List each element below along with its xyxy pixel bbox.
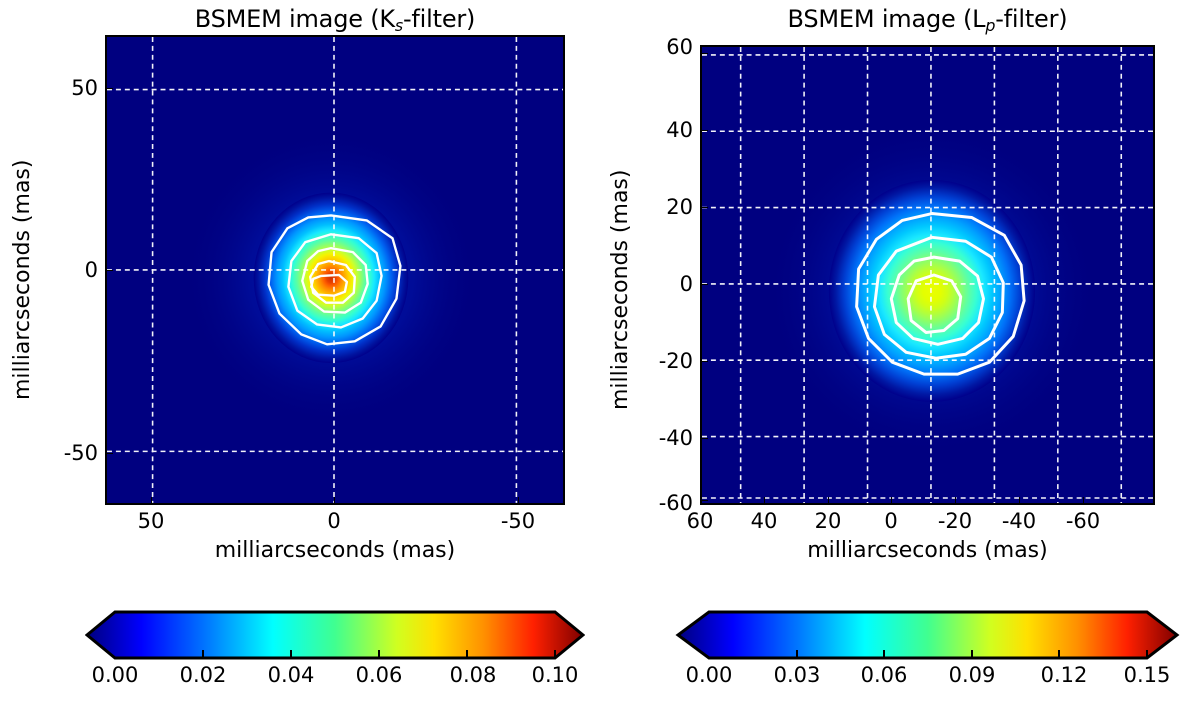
yaxis-label-lp: milliarcseconds (mas) [608, 170, 633, 410]
yaxis-label-ks: milliarcseconds (mas) [10, 160, 35, 400]
xtick-label-ks-2: -50 [501, 509, 535, 533]
colorbar-lp[interactable]: 0.00 0.03 0.06 0.09 0.12 0.15 [675, 608, 1180, 662]
colorbar-lp-gradient [675, 608, 1180, 662]
colorbar-lp-tick-1: 0.03 [774, 663, 821, 687]
panel-title-lp-tail: -filter) [995, 5, 1067, 33]
xtick-mark-lp-6 [1083, 497, 1084, 505]
axes-lp[interactable] [700, 45, 1155, 505]
ytick-mark-lp-1 [700, 130, 708, 131]
ytick-label-ks-1: 0 [50, 258, 98, 282]
ytick-label-ks-0: 50 [50, 76, 98, 100]
panel-title-ks: BSMEM image (Ks-filter) [105, 5, 565, 33]
panel-title-ks-sub: s [395, 16, 403, 35]
panel-title-lp: BSMEM image (Lp-filter) [700, 5, 1155, 33]
ytick-mark-lp-6 [700, 500, 708, 501]
panel-title-lp-sub: p [985, 16, 995, 35]
ytick-mark-lp-2 [700, 207, 708, 208]
ytick-mark-lp-4 [700, 361, 708, 362]
ytick-label-lp-2: 20 [645, 195, 693, 219]
ytick-label-lp-5: -40 [637, 426, 693, 450]
ytick-mark-lp-0 [700, 53, 708, 54]
ytick-label-lp-0: 60 [645, 35, 693, 59]
colorbar-ks-tick-0: 0.00 [92, 663, 139, 687]
image-lp [702, 47, 1153, 503]
xtick-mark-ks-0 [151, 497, 152, 505]
ytick-mark-lp-5 [700, 438, 708, 439]
ytick-label-lp-6: -60 [637, 491, 693, 515]
colorbar-ks[interactable]: 0.00 0.02 0.04 0.06 0.08 0.10 [85, 608, 585, 662]
xtick-mark-ks-1 [334, 497, 335, 505]
ytick-mark-ks-2 [105, 453, 113, 454]
colorbar-ks-tick-1: 0.02 [180, 663, 227, 687]
ytick-mark-lp-3 [700, 284, 708, 285]
colorbar-ks-tick-3: 0.06 [356, 663, 403, 687]
xtick-label-ks-0: 50 [138, 509, 165, 533]
ytick-mark-ks-1 [105, 270, 113, 271]
xtick-mark-lp-5 [1019, 497, 1020, 505]
colorbar-lp-tick-2: 0.06 [861, 663, 908, 687]
colorbar-ks-tick-2: 0.04 [268, 663, 315, 687]
colorbar-lp-tick-5: 0.15 [1124, 663, 1171, 687]
xtick-label-ks-1: 0 [327, 509, 340, 533]
xtick-mark-lp-2 [828, 497, 829, 505]
xtick-label-lp-3: 0 [884, 509, 897, 533]
xtick-mark-lp-3 [891, 497, 892, 505]
figure-canvas: BSMEM image (Ks-filter) [0, 0, 1200, 702]
ytick-mark-ks-0 [105, 88, 113, 89]
xtick-label-lp-2: 20 [815, 509, 842, 533]
xtick-label-lp-5: -40 [1002, 509, 1036, 533]
colorbar-lp-tick-0: 0.00 [686, 663, 733, 687]
ytick-label-lp-4: -20 [637, 349, 693, 373]
xtick-mark-lp-0 [700, 497, 701, 505]
xtick-label-lp-1: 40 [751, 509, 778, 533]
colorbar-ks-gradient [85, 608, 585, 662]
panel-ks: BSMEM image (Ks-filter) [0, 0, 600, 702]
xaxis-label-lp: milliarcseconds (mas) [700, 538, 1155, 563]
xaxis-label-ks: milliarcseconds (mas) [105, 538, 565, 563]
panel-title-lp-main: BSMEM image (L [788, 5, 986, 33]
axes-ks[interactable] [105, 35, 565, 505]
colorbar-lp-tick-3: 0.09 [949, 663, 996, 687]
ytick-label-ks-2: -50 [42, 441, 98, 465]
xtick-mark-ks-2 [518, 497, 519, 505]
colorbar-ks-tick-5: 0.10 [532, 663, 579, 687]
colorbar-ks-tick-4: 0.08 [450, 663, 497, 687]
xtick-mark-lp-4 [955, 497, 956, 505]
ytick-label-lp-1: 40 [645, 118, 693, 142]
ytick-label-lp-3: 0 [645, 272, 693, 296]
panel-title-ks-main: BSMEM image (K [195, 5, 395, 33]
image-ks [107, 37, 563, 503]
colorbar-lp-tick-4: 0.12 [1041, 663, 1088, 687]
xtick-label-lp-4: -20 [938, 509, 972, 533]
xtick-label-lp-6: -60 [1066, 509, 1100, 533]
xtick-mark-lp-1 [764, 497, 765, 505]
panel-lp: BSMEM image (Lp-filter) [600, 0, 1200, 702]
panel-title-ks-tail: -filter) [403, 5, 475, 33]
